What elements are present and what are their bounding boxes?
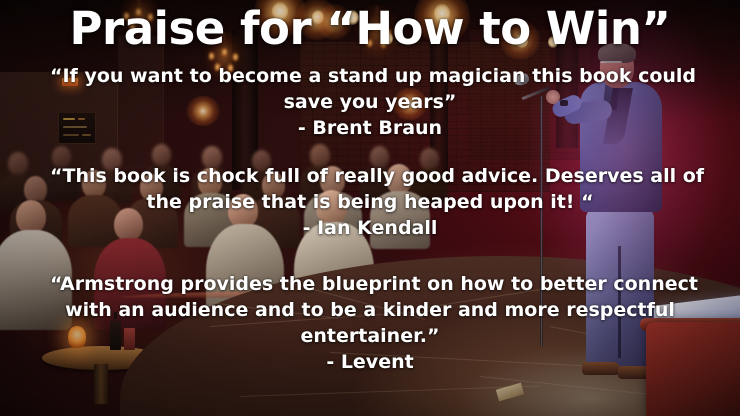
quote-line: “If you want to become a stand up magici… xyxy=(50,63,690,89)
quote-line: the praise that is being heaped upon it!… xyxy=(50,189,690,215)
slide-text-layer: Praise for “How to Win” “If you want to … xyxy=(0,0,740,416)
praise-slide: Praise for “How to Win” “If you want to … xyxy=(0,0,740,416)
quote-block-2: “This book is chock full of really good … xyxy=(50,163,690,241)
quote-line: “This book is chock full of really good … xyxy=(50,163,690,189)
quote-attribution: - Brent Braun xyxy=(50,115,690,141)
quote-line: with an audience and to be a kinder and … xyxy=(50,297,690,323)
quote-line: save you years” xyxy=(50,89,690,115)
quote-block-3: “Armstrong provides the blueprint on how… xyxy=(50,271,690,375)
quote-line: entertainer.” xyxy=(50,323,690,349)
quote-block-1: “If you want to become a stand up magici… xyxy=(50,63,690,141)
page-title: Praise for “How to Win” xyxy=(70,6,671,51)
quote-attribution: - Ian Kendall xyxy=(50,215,690,241)
quote-attribution: - Levent xyxy=(50,349,690,375)
quote-line: “Armstrong provides the blueprint on how… xyxy=(50,271,690,297)
